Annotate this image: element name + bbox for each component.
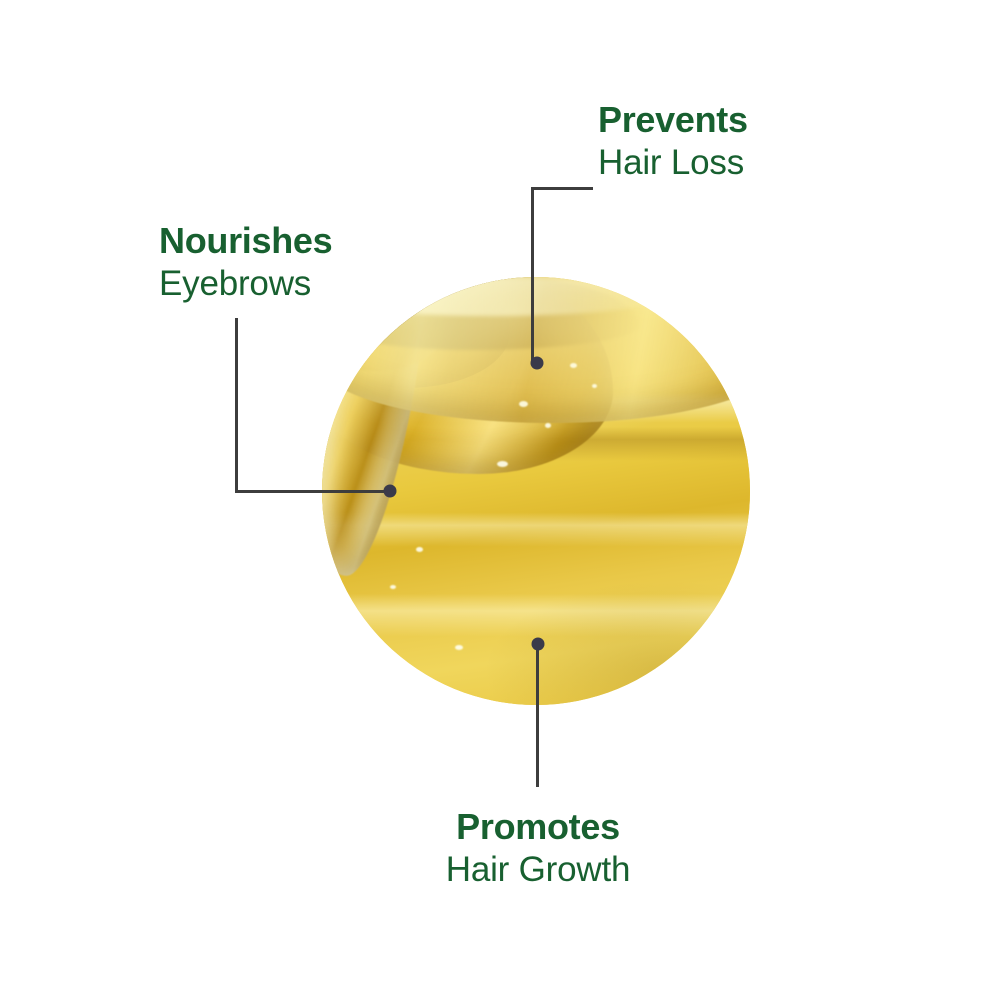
callout-promotes: Promotes Hair Growth — [446, 808, 631, 889]
leader-dot-prevents — [531, 357, 544, 370]
oil-highlight-speck — [545, 423, 551, 428]
leader-dot-promotes — [532, 638, 545, 651]
leader-line-prevents-horizontal — [531, 187, 593, 190]
callout-nourishes-subline: Eyebrows — [159, 265, 332, 303]
leader-line-prevents-vertical — [531, 187, 534, 363]
callout-prevents-headline: Prevents — [598, 101, 748, 140]
infographic-canvas: Prevents Hair Loss Nourishes Eyebrows Pr… — [0, 0, 1000, 1000]
oil-highlight-speck — [592, 384, 597, 388]
callout-prevents-subline: Hair Loss — [598, 144, 748, 182]
oil-highlight-speck — [455, 645, 463, 650]
leader-line-nourishes-vertical — [235, 318, 238, 493]
callout-nourishes-headline: Nourishes — [159, 222, 332, 261]
oil-highlight-speck — [570, 363, 577, 368]
callout-prevents: Prevents Hair Loss — [598, 101, 748, 182]
callout-promotes-headline: Promotes — [446, 808, 631, 847]
leader-dot-nourishes — [384, 485, 397, 498]
callout-promotes-subline: Hair Growth — [446, 851, 631, 889]
callout-nourishes: Nourishes Eyebrows — [159, 222, 332, 303]
oil-pool-ripple — [322, 277, 664, 316]
leader-line-nourishes-horizontal — [235, 490, 392, 493]
leader-line-promotes-vertical — [536, 645, 539, 787]
oil-highlight-speck — [416, 547, 423, 552]
oil-highlight-speck — [519, 401, 528, 407]
